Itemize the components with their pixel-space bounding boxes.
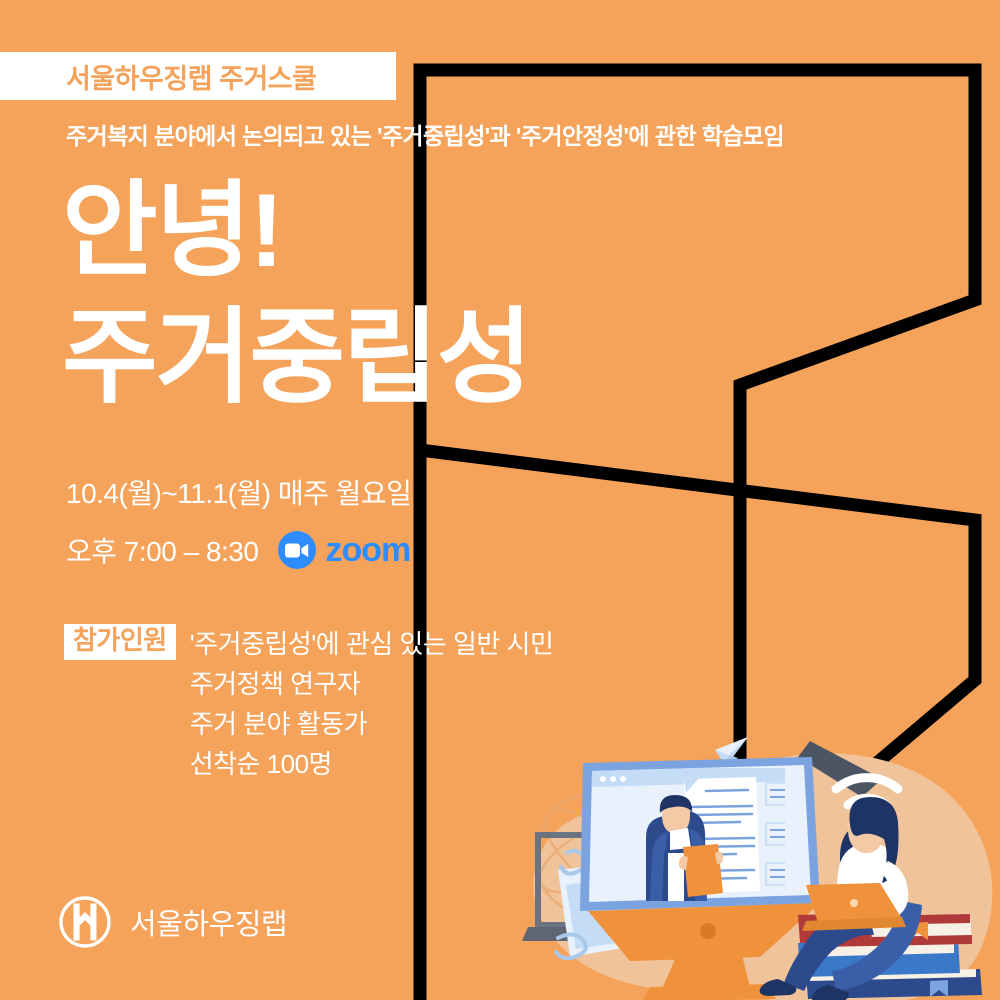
page-title: 안녕! 주거중립성 xyxy=(62,168,682,422)
zoom-logo: zoom xyxy=(278,531,410,569)
participants-badge: 참가인원 xyxy=(64,624,176,660)
brand-logo: 서울하우징랩 xyxy=(58,895,287,949)
headline-line-1: 안녕! xyxy=(62,173,282,289)
housing-lab-monogram-icon xyxy=(58,895,112,949)
participants-list: '주거중립성'에 관심 있는 일반 시민 주거정책 연구자 주거 분야 활동가 … xyxy=(190,624,554,784)
poster-canvas: 서울하우징랩 주거스쿨 주거복지 분야에서 논의되고 있는 '주거중립성'과 '… xyxy=(0,0,1000,1000)
participants-block: 참가인원 '주거중립성'에 관심 있는 일반 시민 주거정책 연구자 주거 분야… xyxy=(64,624,553,784)
schedule-dates: 10.4(월)~11.1(월) 매주 월요일 xyxy=(66,472,411,512)
top-banner: 서울하우징랩 주거스쿨 xyxy=(0,52,396,100)
headline-line-2: 주거중립성 xyxy=(62,295,682,422)
participants-row: 참가인원 '주거중립성'에 관심 있는 일반 시민 주거정책 연구자 주거 분야… xyxy=(64,624,553,784)
schedule-time: 오후 7:00 – 8:30 xyxy=(66,530,258,570)
list-item: 선착순 100명 xyxy=(190,744,554,784)
list-item: 주거 분야 활동가 xyxy=(190,704,554,744)
online-webinar-illustration xyxy=(510,735,1000,1000)
brand-name: 서울하우징랩 xyxy=(130,901,287,943)
schedule-block: 10.4(월)~11.1(월) 매주 월요일 오후 7:00 – 8:30 zo… xyxy=(66,472,411,570)
top-banner-label: 서울하우징랩 주거스쿨 xyxy=(66,57,316,96)
schedule-time-row: 오후 7:00 – 8:30 zoom xyxy=(66,530,411,570)
zoom-wordmark: zoom xyxy=(325,533,410,567)
list-item: 주거정책 연구자 xyxy=(190,664,554,704)
subtitle-text: 주거복지 분야에서 논의되고 있는 '주거중립성'과 '주거안정성'에 관한 학… xyxy=(66,117,966,151)
video-camera-icon xyxy=(278,531,316,569)
list-item: '주거중립성'에 관심 있는 일반 시민 xyxy=(190,624,554,664)
video-camera-glyph xyxy=(285,543,309,558)
